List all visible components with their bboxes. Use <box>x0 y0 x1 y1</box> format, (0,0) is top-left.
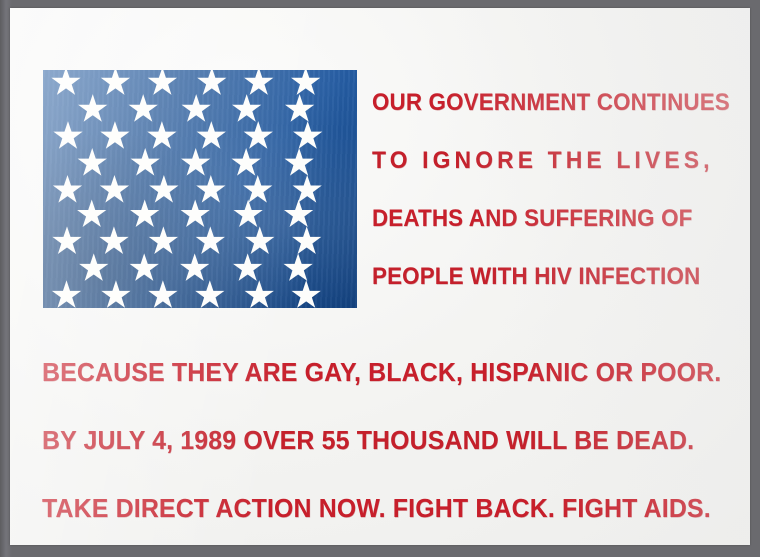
flag-star <box>244 280 274 308</box>
flag-star <box>130 148 160 178</box>
flag-star <box>52 226 82 256</box>
flag-star <box>77 148 107 178</box>
flag-star <box>51 70 81 97</box>
headline-line-4: PEOPLE WITH HIV INFECTION <box>372 248 710 306</box>
flag-star <box>147 70 177 97</box>
headline-line-2: TO IGNORE THE LIVES, <box>372 132 717 190</box>
flag-star <box>78 94 108 124</box>
flag-star <box>291 70 321 97</box>
flag-star <box>101 280 131 308</box>
flag-star <box>243 121 273 151</box>
flag-star <box>285 94 315 124</box>
flag-star <box>99 175 129 205</box>
flag-star <box>148 226 178 256</box>
flag-star <box>231 148 261 178</box>
flag-star <box>180 199 210 229</box>
headline-right-block: OUR GOVERNMENT CONTINUESTO IGNORE THE LI… <box>372 74 735 306</box>
flag-star <box>243 175 273 205</box>
flag-star <box>195 226 225 256</box>
flag-star <box>128 94 158 124</box>
flag-star <box>180 253 210 283</box>
headline-line-1: OUR GOVERNMENT CONTINUES <box>372 74 710 132</box>
flag-star <box>232 94 262 124</box>
flag-star <box>283 253 313 283</box>
flag-star <box>245 226 275 256</box>
flag-star <box>233 253 263 283</box>
headline-line-7: TAKE DIRECT ACTION NOW. FIGHT BACK. FIGH… <box>42 474 701 542</box>
poster-mount-frame: OUR GOVERNMENT CONTINUESTO IGNORE THE LI… <box>0 0 760 557</box>
flag-star <box>148 280 178 308</box>
flag-star <box>244 70 274 97</box>
flag-star <box>53 175 83 205</box>
flag-star <box>100 70 130 97</box>
flag-star <box>181 148 211 178</box>
flag-star <box>99 226 129 256</box>
flag-star <box>196 175 226 205</box>
headline-line-3: DEATHS AND SUFFERING OF <box>372 190 710 248</box>
flag-star <box>233 199 263 229</box>
american-flag-canton <box>43 70 357 308</box>
flag-star <box>181 94 211 124</box>
flag-star <box>147 121 177 151</box>
headline-bottom-block: BECAUSE THEY ARE GAY, BLACK, HISPANIC OR… <box>42 338 732 542</box>
flag-star <box>293 121 323 151</box>
flag-star <box>129 253 159 283</box>
poster-paper: OUR GOVERNMENT CONTINUESTO IGNORE THE LI… <box>10 8 750 545</box>
flag-star <box>196 121 226 151</box>
flag-star <box>284 199 314 229</box>
flag-star <box>100 121 130 151</box>
flag-star <box>197 70 227 97</box>
headline-line-5: BECAUSE THEY ARE GAY, BLACK, HISPANIC OR… <box>42 338 701 406</box>
flag-star <box>292 175 322 205</box>
flag-star <box>53 121 83 151</box>
flag-star <box>195 280 225 308</box>
flag-star <box>291 280 321 308</box>
flag-star <box>284 148 314 178</box>
flag-star <box>130 199 160 229</box>
flag-star <box>292 226 322 256</box>
flag-star <box>149 175 179 205</box>
flag-star <box>77 199 107 229</box>
headline-line-6: BY JULY 4, 1989 OVER 55 THOUSAND WILL BE… <box>42 406 701 474</box>
flag-star <box>52 280 82 308</box>
flag-star <box>79 253 109 283</box>
